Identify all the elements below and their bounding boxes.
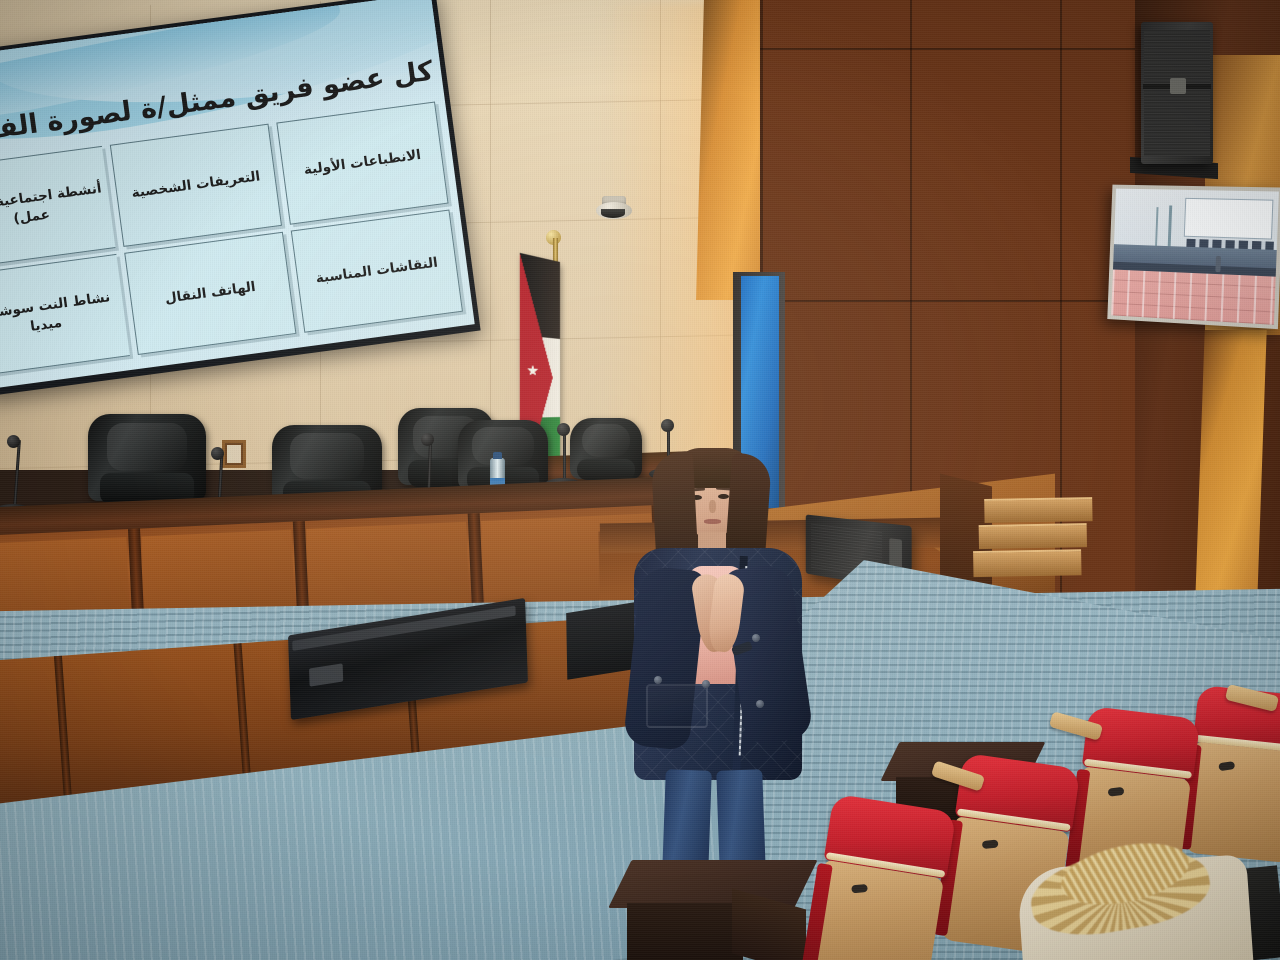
slide-cell: التعريفات الشخصية bbox=[110, 124, 282, 247]
auditorium-photo: كل عضو فريق ممثل/ة لصورة الفريق الانطباع… bbox=[0, 0, 1280, 960]
slide-cell: النقاشات المناسبة bbox=[291, 209, 463, 332]
slide-cell-label: أنشطة اجتماعية (غذاء عمل) bbox=[0, 179, 108, 235]
wall-loudspeaker bbox=[1141, 22, 1213, 164]
gooseneck-microphone bbox=[6, 440, 20, 510]
presenter bbox=[624, 448, 814, 880]
slide-cell: نشاط النت سوشيال ميديا bbox=[0, 254, 130, 377]
stage-steps bbox=[984, 497, 1096, 595]
slide-cell-label: النقاشات المناسبة bbox=[315, 254, 439, 288]
slide-cell: الانطباعات الأولية bbox=[276, 101, 448, 224]
slide-cell-label: نشاط النت سوشيال ميديا bbox=[0, 287, 123, 343]
slide-cell-label: التعريفات الشخصية bbox=[131, 168, 262, 203]
slide-grid: الانطباعات الأولية التعريفات الشخصية أنش… bbox=[0, 101, 463, 377]
side-table bbox=[620, 860, 806, 960]
auditorium-seat bbox=[1182, 685, 1280, 863]
slide-cell-label: الهاتف النقال bbox=[164, 278, 257, 308]
wall-plaque bbox=[222, 440, 246, 468]
slide-cell: أنشطة اجتماعية (غذاء عمل) bbox=[0, 146, 116, 269]
gooseneck-microphone bbox=[556, 428, 570, 484]
tv-screen-content bbox=[1111, 189, 1279, 325]
slide-cell-label: الانطباعات الأولية bbox=[303, 146, 422, 180]
ptz-dome-camera-icon bbox=[594, 196, 634, 218]
slide-cell: الهاتف النقال bbox=[124, 232, 296, 355]
wall-tv-monitor bbox=[1107, 185, 1280, 330]
projection-screen: كل عضو فريق ممثل/ة لصورة الفريق الانطباع… bbox=[0, 0, 481, 397]
projection-screen-surface: كل عضو فريق ممثل/ة لصورة الفريق الانطباع… bbox=[0, 0, 475, 389]
